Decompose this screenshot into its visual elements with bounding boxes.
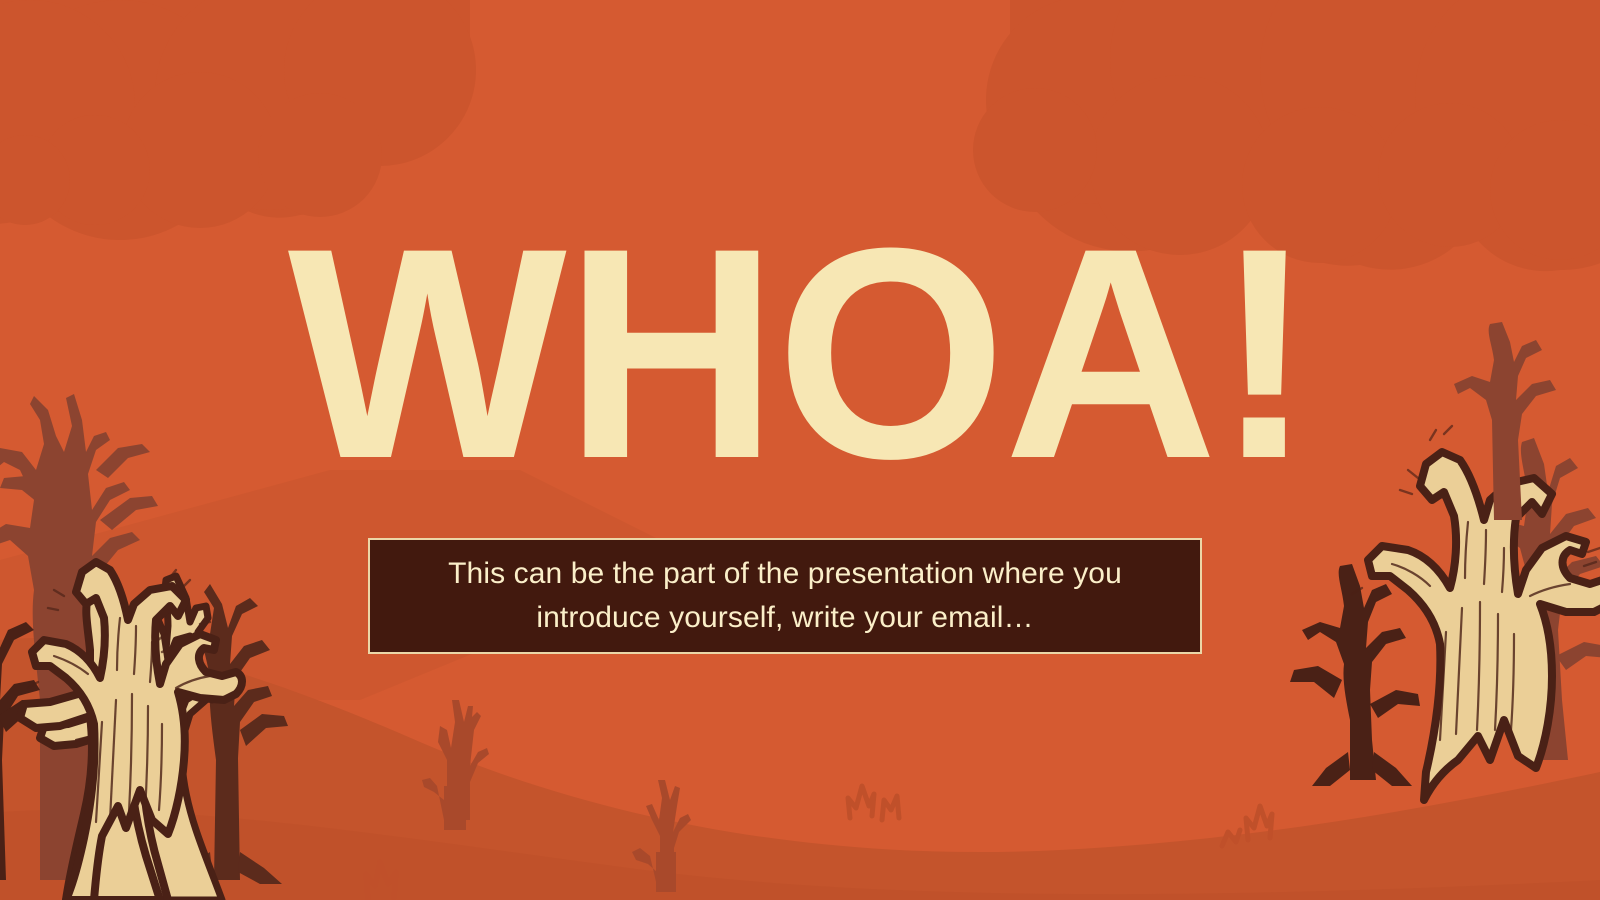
subtitle-text: This can be the part of the presentation… — [396, 552, 1174, 640]
presentation-slide: WHOA! This can be the part of the presen… — [0, 0, 1600, 900]
subtitle-textbox[interactable]: This can be the part of the presentation… — [368, 538, 1202, 654]
slide-content-layer: WHOA! This can be the part of the presen… — [0, 0, 1600, 900]
title-container: WHOA! — [0, 236, 1600, 470]
page-title: WHOA! — [288, 236, 1312, 470]
